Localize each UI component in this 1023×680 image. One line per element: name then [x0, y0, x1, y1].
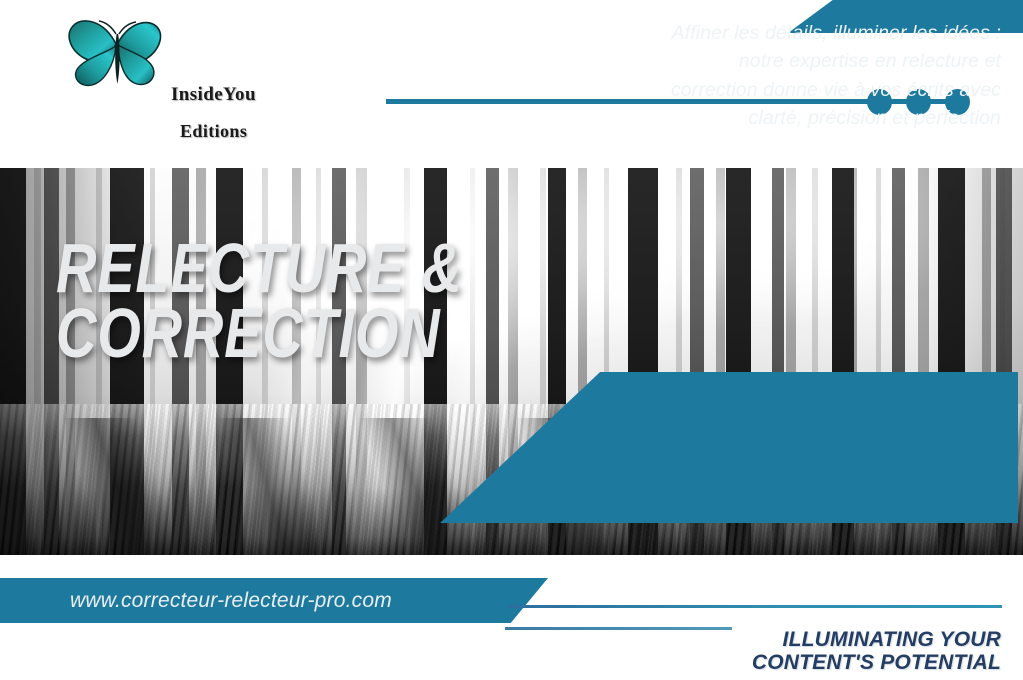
- quote-line-1: Affiner les détails, illuminer les idées…: [601, 19, 1001, 47]
- footer-tagline-line-2: CONTENT'S POTENTIAL: [752, 652, 1001, 675]
- page-title-line-2: CORRECTION: [56, 301, 463, 366]
- footer-tagline: ILLUMINATING YOUR CONTENT'S POTENTIAL: [752, 629, 1001, 674]
- quote-line-4: clarté, précision et perfection: [601, 104, 1001, 132]
- poster-canvas: InsideYou Editions: [0, 0, 1023, 680]
- page-title-line-1: RELECTURE &: [56, 236, 463, 301]
- quote-text: Affiner les détails, illuminer les idées…: [601, 19, 1001, 133]
- brand-subtitle: Editions: [180, 121, 247, 142]
- butterfly-icon: [64, 14, 170, 100]
- quote-line-2: notre expertise en relecture et: [601, 47, 1001, 75]
- footer-tagline-line-1: ILLUMINATING YOUR: [752, 629, 1001, 652]
- footer-rule-bottom: [505, 627, 732, 630]
- website-url-link[interactable]: www.correcteur-relecteur-pro.com: [70, 589, 392, 613]
- brand-name: InsideYou: [171, 84, 256, 106]
- footer-rule-top: [508, 605, 1002, 608]
- page-title: RELECTURE & CORRECTION: [56, 236, 463, 366]
- brand-logo[interactable]: InsideYou Editions: [56, 14, 276, 144]
- quote-line-3: correction donne vie à vos écrits avec: [601, 76, 1001, 104]
